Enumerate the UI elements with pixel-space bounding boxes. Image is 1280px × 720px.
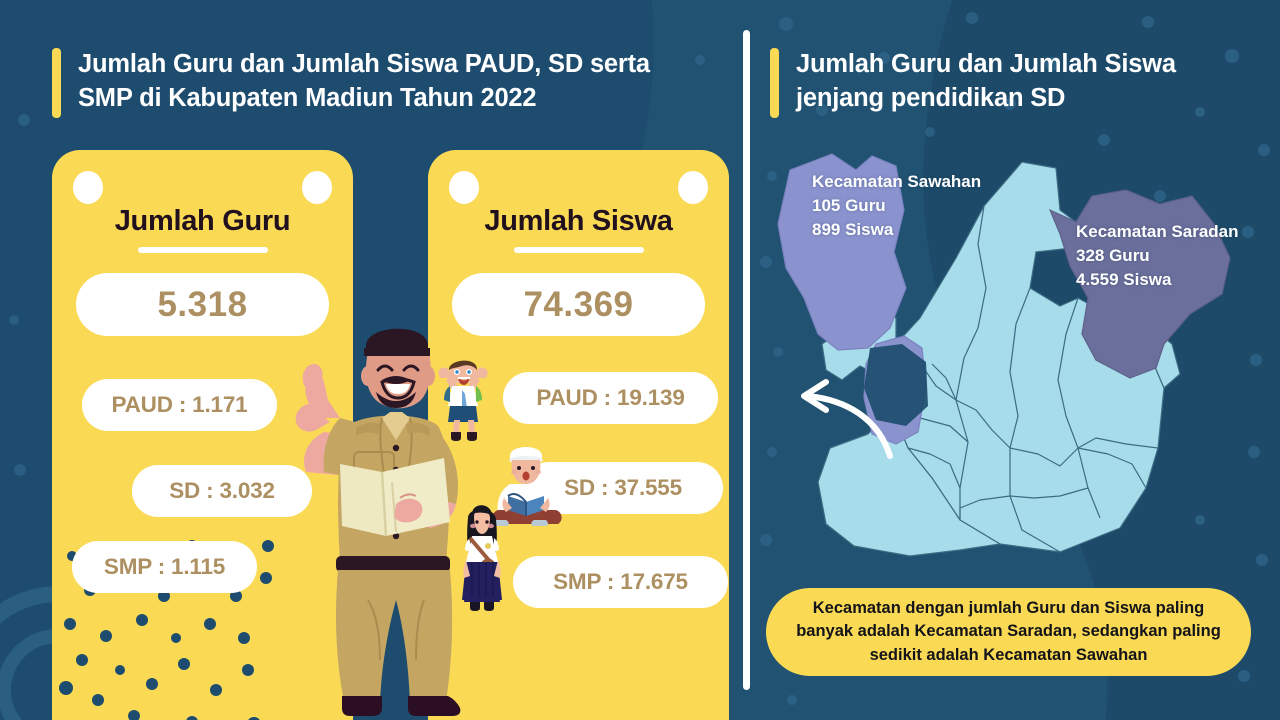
card-punch-hole-right (678, 171, 708, 204)
infographic-canvas: Jumlah Guru dan Jumlah Siswa PAUD, SD se… (0, 0, 1280, 720)
panel-divider (743, 30, 750, 690)
map-label-kecamatan-sawahan: Kecamatan Sawahan 105 Guru 899 Siswa (812, 170, 981, 242)
saradan-students: 4.559 Siswa (1076, 268, 1239, 292)
title-accent-bar (52, 48, 61, 118)
card-punch-hole-left (73, 171, 103, 204)
left-title-text: Jumlah Guru dan Jumlah Siswa PAUD, SD se… (78, 48, 650, 115)
saradan-teachers: 328 Guru (1076, 244, 1239, 268)
map-caption-text: Kecamatan dengan jumlah Guru dan Siswa p… (788, 597, 1229, 667)
card-header: Jumlah Siswa (428, 205, 729, 253)
map-label-kecamatan-saradan: Kecamatan Saradan 328 Guru 4.559 Siswa (1076, 220, 1239, 292)
breakdown-label-smp: SMP : 1.115 (104, 554, 225, 580)
sawahan-name: Kecamatan Sawahan (812, 170, 981, 194)
total-value: 5.318 (157, 285, 247, 325)
saradan-name: Kecamatan Saradan (1076, 220, 1239, 244)
breakdown-label-paud: PAUD : 19.139 (536, 385, 684, 411)
card-punch-hole-left (449, 171, 479, 204)
card-title: Jumlah Siswa (428, 205, 729, 238)
breakdown-pill-smp: SMP : 1.115 (72, 541, 257, 593)
breakdown-label-sd: SD : 37.555 (564, 475, 682, 501)
card-title: Jumlah Guru (52, 205, 353, 238)
right-title-line-2: jenjang pendidikan SD (796, 82, 1176, 116)
card-punch-hole-right (302, 171, 332, 204)
total-value: 74.369 (523, 285, 633, 325)
schoolboy-illustration (432, 358, 494, 446)
card-header: Jumlah Guru (52, 205, 353, 253)
breakdown-label-smp: SMP : 17.675 (553, 569, 688, 595)
sawahan-teachers: 105 Guru (812, 194, 981, 218)
left-title-line-1: Jumlah Guru dan Jumlah Siswa PAUD, SD se… (78, 48, 650, 82)
right-panel-title: Jumlah Guru dan Jumlah Siswa jenjang pen… (770, 48, 1176, 118)
breakdown-pill-paud: PAUD : 19.139 (503, 372, 718, 424)
card-title-underline (514, 247, 644, 253)
left-panel-title: Jumlah Guru dan Jumlah Siswa PAUD, SD se… (52, 48, 650, 118)
breakdown-pill-smp: SMP : 17.675 (513, 556, 728, 608)
breakdown-pill-paud: PAUD : 1.171 (82, 379, 277, 431)
map-caption-box: Kecamatan dengan jumlah Guru dan Siswa p… (766, 588, 1251, 676)
breakdown-label-sd: SD : 3.032 (169, 478, 275, 504)
sawahan-students: 899 Siswa (812, 218, 981, 242)
right-title-line-1: Jumlah Guru dan Jumlah Siswa (796, 48, 1176, 82)
title-accent-bar (770, 48, 779, 118)
card-title-underline (138, 247, 268, 253)
breakdown-label-paud: PAUD : 1.171 (112, 392, 248, 418)
schoolgirl-illustration (452, 504, 512, 616)
left-title-line-2: SMP di Kabupaten Madiun Tahun 2022 (78, 82, 650, 116)
right-title-text: Jumlah Guru dan Jumlah Siswa jenjang pen… (796, 48, 1176, 115)
